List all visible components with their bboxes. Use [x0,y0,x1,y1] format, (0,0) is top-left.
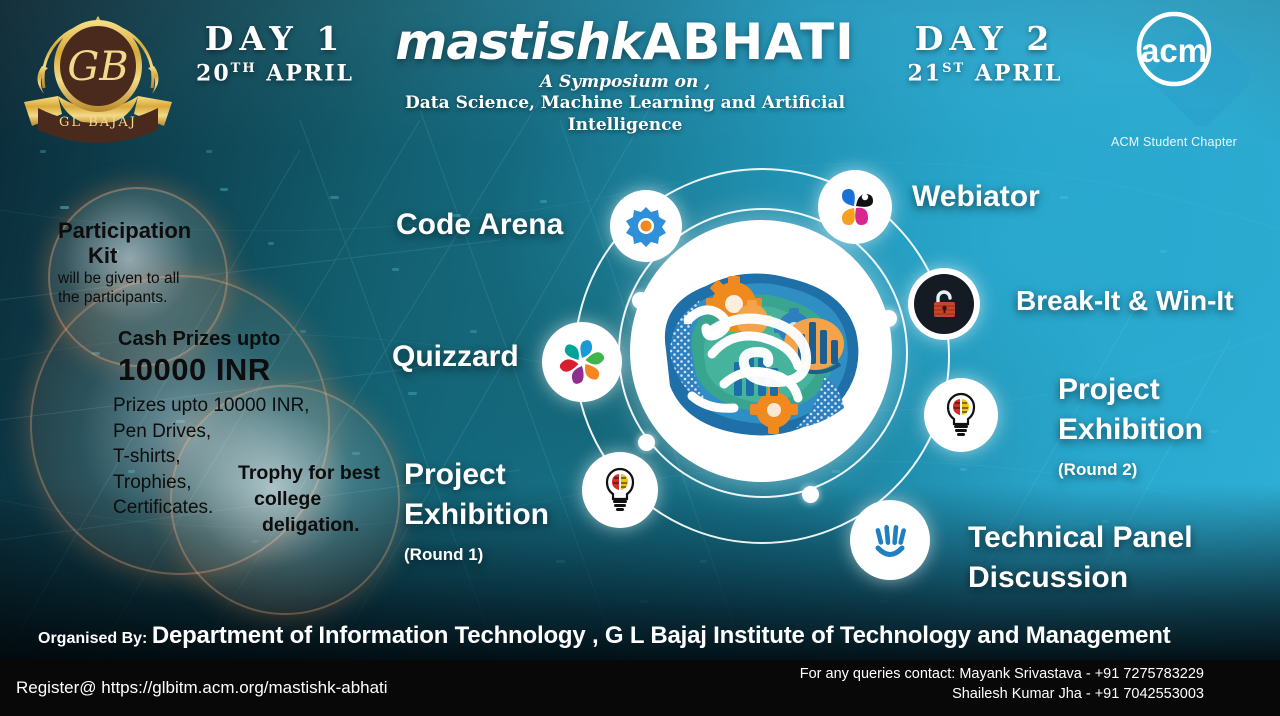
event-label-panel: Technical Panel Discussion [968,518,1193,598]
icon-bubble-quizzard[interactable] [542,322,622,402]
day2-title: DAY 2 [900,22,1070,56]
contact-name: Mayank Srivastava - [959,666,1090,682]
panel-line2: Discussion [968,558,1193,598]
icon-bubble-code-arena[interactable] [610,190,682,262]
project-1-round: (Round 1) [404,535,549,575]
day1-title: DAY 1 [190,22,360,56]
event-label-webiator: Webiator [912,180,1040,214]
organised-by-label: Organised By: [38,630,147,647]
kit-line1: Participation [58,218,273,243]
smiley-hand-icon [866,516,914,564]
project-1-line2: Exhibition [404,495,549,535]
contact-row: For any queries contact: Mayank Srivasta… [800,664,1204,684]
panel-line1: Technical Panel [968,518,1193,558]
project-1-line1: Project [404,455,549,495]
kit-line4: the participants. [58,288,273,307]
event-label-break-it: Break-It & Win-It [1016,285,1234,317]
symposium-line2: Data Science, Machine Learning and Artif… [370,92,880,136]
trophy-line3: deligation. [238,512,428,538]
gear-icon [624,204,668,248]
participation-kit-block: Participation Kit will be given to all t… [58,218,273,307]
day1-block: DAY 1 20TH APRIL [190,22,360,86]
event-label-quizzard: Quizzard [392,340,519,374]
contact-phone: +91 7275783229 [1095,666,1204,682]
icon-bubble-project-1[interactable] [582,452,658,528]
pinwheel-icon [834,186,876,228]
event-title: mastishkABHATI [370,14,880,70]
gl-bajaj-logo: GB GL BAJAJ [14,4,182,144]
cash-prize-label: Cash Prizes upto [118,327,368,351]
contact-phone: +91 7042553003 [1095,686,1204,702]
gl-bajaj-logo-text: GL BAJAJ [59,115,137,130]
organised-by-block: Organised By: Department of Information … [38,622,1170,650]
event-label-code-arena: Code Arena [396,208,563,242]
trophy-block: Trophy for best college deligation. [238,460,428,538]
acm-diamond-icon: acm [1099,6,1249,126]
lightbulb-brain-icon [941,391,981,439]
icon-bubble-webiator[interactable] [818,170,892,244]
svg-text:GB: GB [67,44,128,90]
event-label-project-1: Project Exhibition (Round 1) [404,455,549,575]
project-2-line2: Exhibition [1058,410,1203,450]
icon-bubble-panel[interactable] [850,500,930,580]
queries-label: For any queries contact: [800,666,956,682]
cash-prize-amount: 10000 INR [118,351,368,389]
acm-mark-text: acm [1141,32,1207,69]
project-2-round: (Round 2) [1058,450,1203,490]
day2-block: DAY 2 21ST APRIL [900,22,1070,86]
kit-line2: Kit [58,243,273,269]
event-label-project-2: Project Exhibition (Round 2) [1058,370,1203,490]
organising-department: Department of Information Technology , G… [152,622,1171,649]
trophy-line2: college [238,486,428,512]
cash-prize-block: Cash Prizes upto 10000 INR [118,327,368,389]
prize-item: Pen Drives, [113,419,343,445]
event-poster: GB GL BAJAJ DAY 1 20TH APRIL mastishkABH… [0,0,1280,716]
icon-bubble-project-2[interactable] [924,378,998,452]
title-block: mastishkABHATI A Symposium on , Data Sci… [370,14,880,136]
kit-line3: will be given to all [58,269,273,288]
acm-caption: ACM Student Chapter [1084,135,1264,149]
day1-date: 20TH APRIL [190,56,360,86]
lightbulb-brain-icon [600,466,640,514]
title-part2: ABHATI [643,13,855,71]
orbit-system [520,150,1000,600]
prize-item: Prizes upto 10000 INR, [113,393,343,419]
contact-block: For any queries contact: Mayank Srivasta… [800,664,1204,704]
project-2-line1: Project [1058,370,1203,410]
contact-name: Shailesh Kumar Jha - [952,686,1091,702]
registration-link[interactable]: Register@ https://glbitm.acm.org/mastish… [16,678,388,698]
day2-date: 21ST APRIL [900,56,1070,86]
acm-logo-block: acm ACM Student Chapter [1084,6,1264,149]
brain-illustration [648,258,876,448]
rainbow-swirl-icon [558,338,606,386]
open-padlock-icon [927,287,961,321]
symposium-line1: A Symposium on , [370,72,880,92]
contact-row: Shailesh Kumar Jha - +91 7042553003 [800,684,1204,704]
icon-bubble-break-it[interactable] [908,268,980,340]
orbit-node [802,486,819,503]
trophy-line1: Trophy for best [238,460,428,486]
title-part1: mastishk [395,13,642,71]
